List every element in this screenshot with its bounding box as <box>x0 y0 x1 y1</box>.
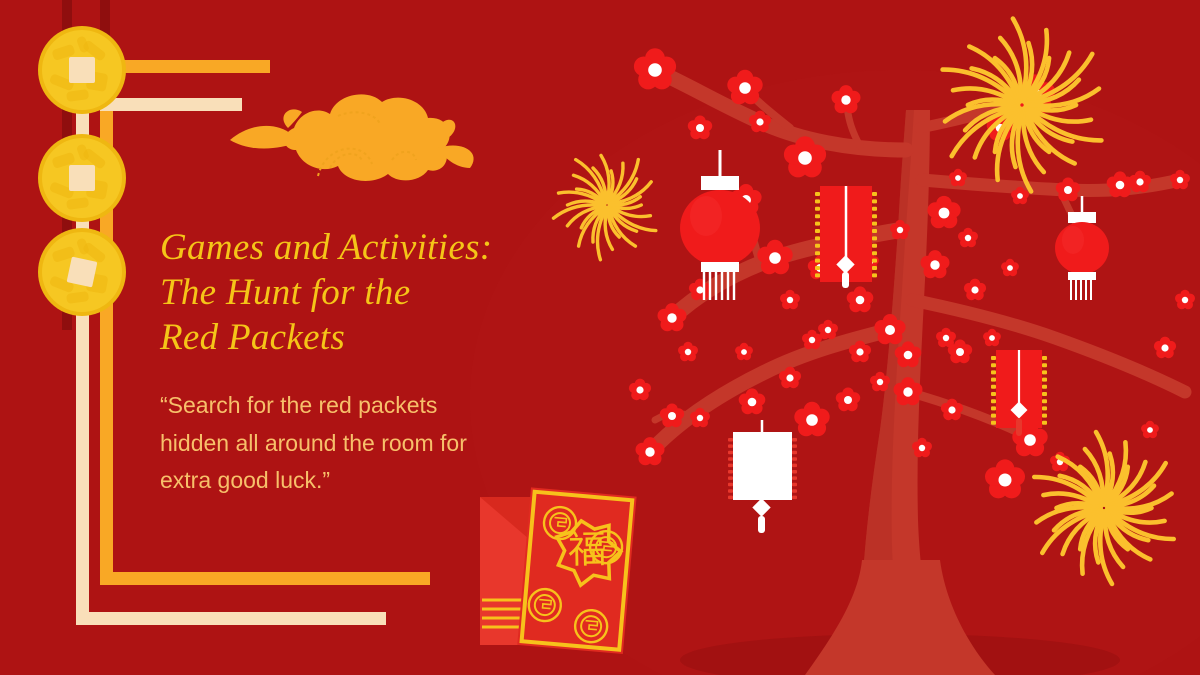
slide-body-quote: “Search for the red packets hidden all a… <box>160 387 560 499</box>
envelope-front: 福 <box>517 487 636 654</box>
slide-canvas: 福 Games and Activities: The Hunt for the… <box>0 0 1200 675</box>
text-block: Games and Activities: The Hunt for the R… <box>160 225 560 499</box>
fu-character: 福 <box>568 527 607 572</box>
page-title: Games and Activities: The Hunt for the R… <box>160 225 560 360</box>
